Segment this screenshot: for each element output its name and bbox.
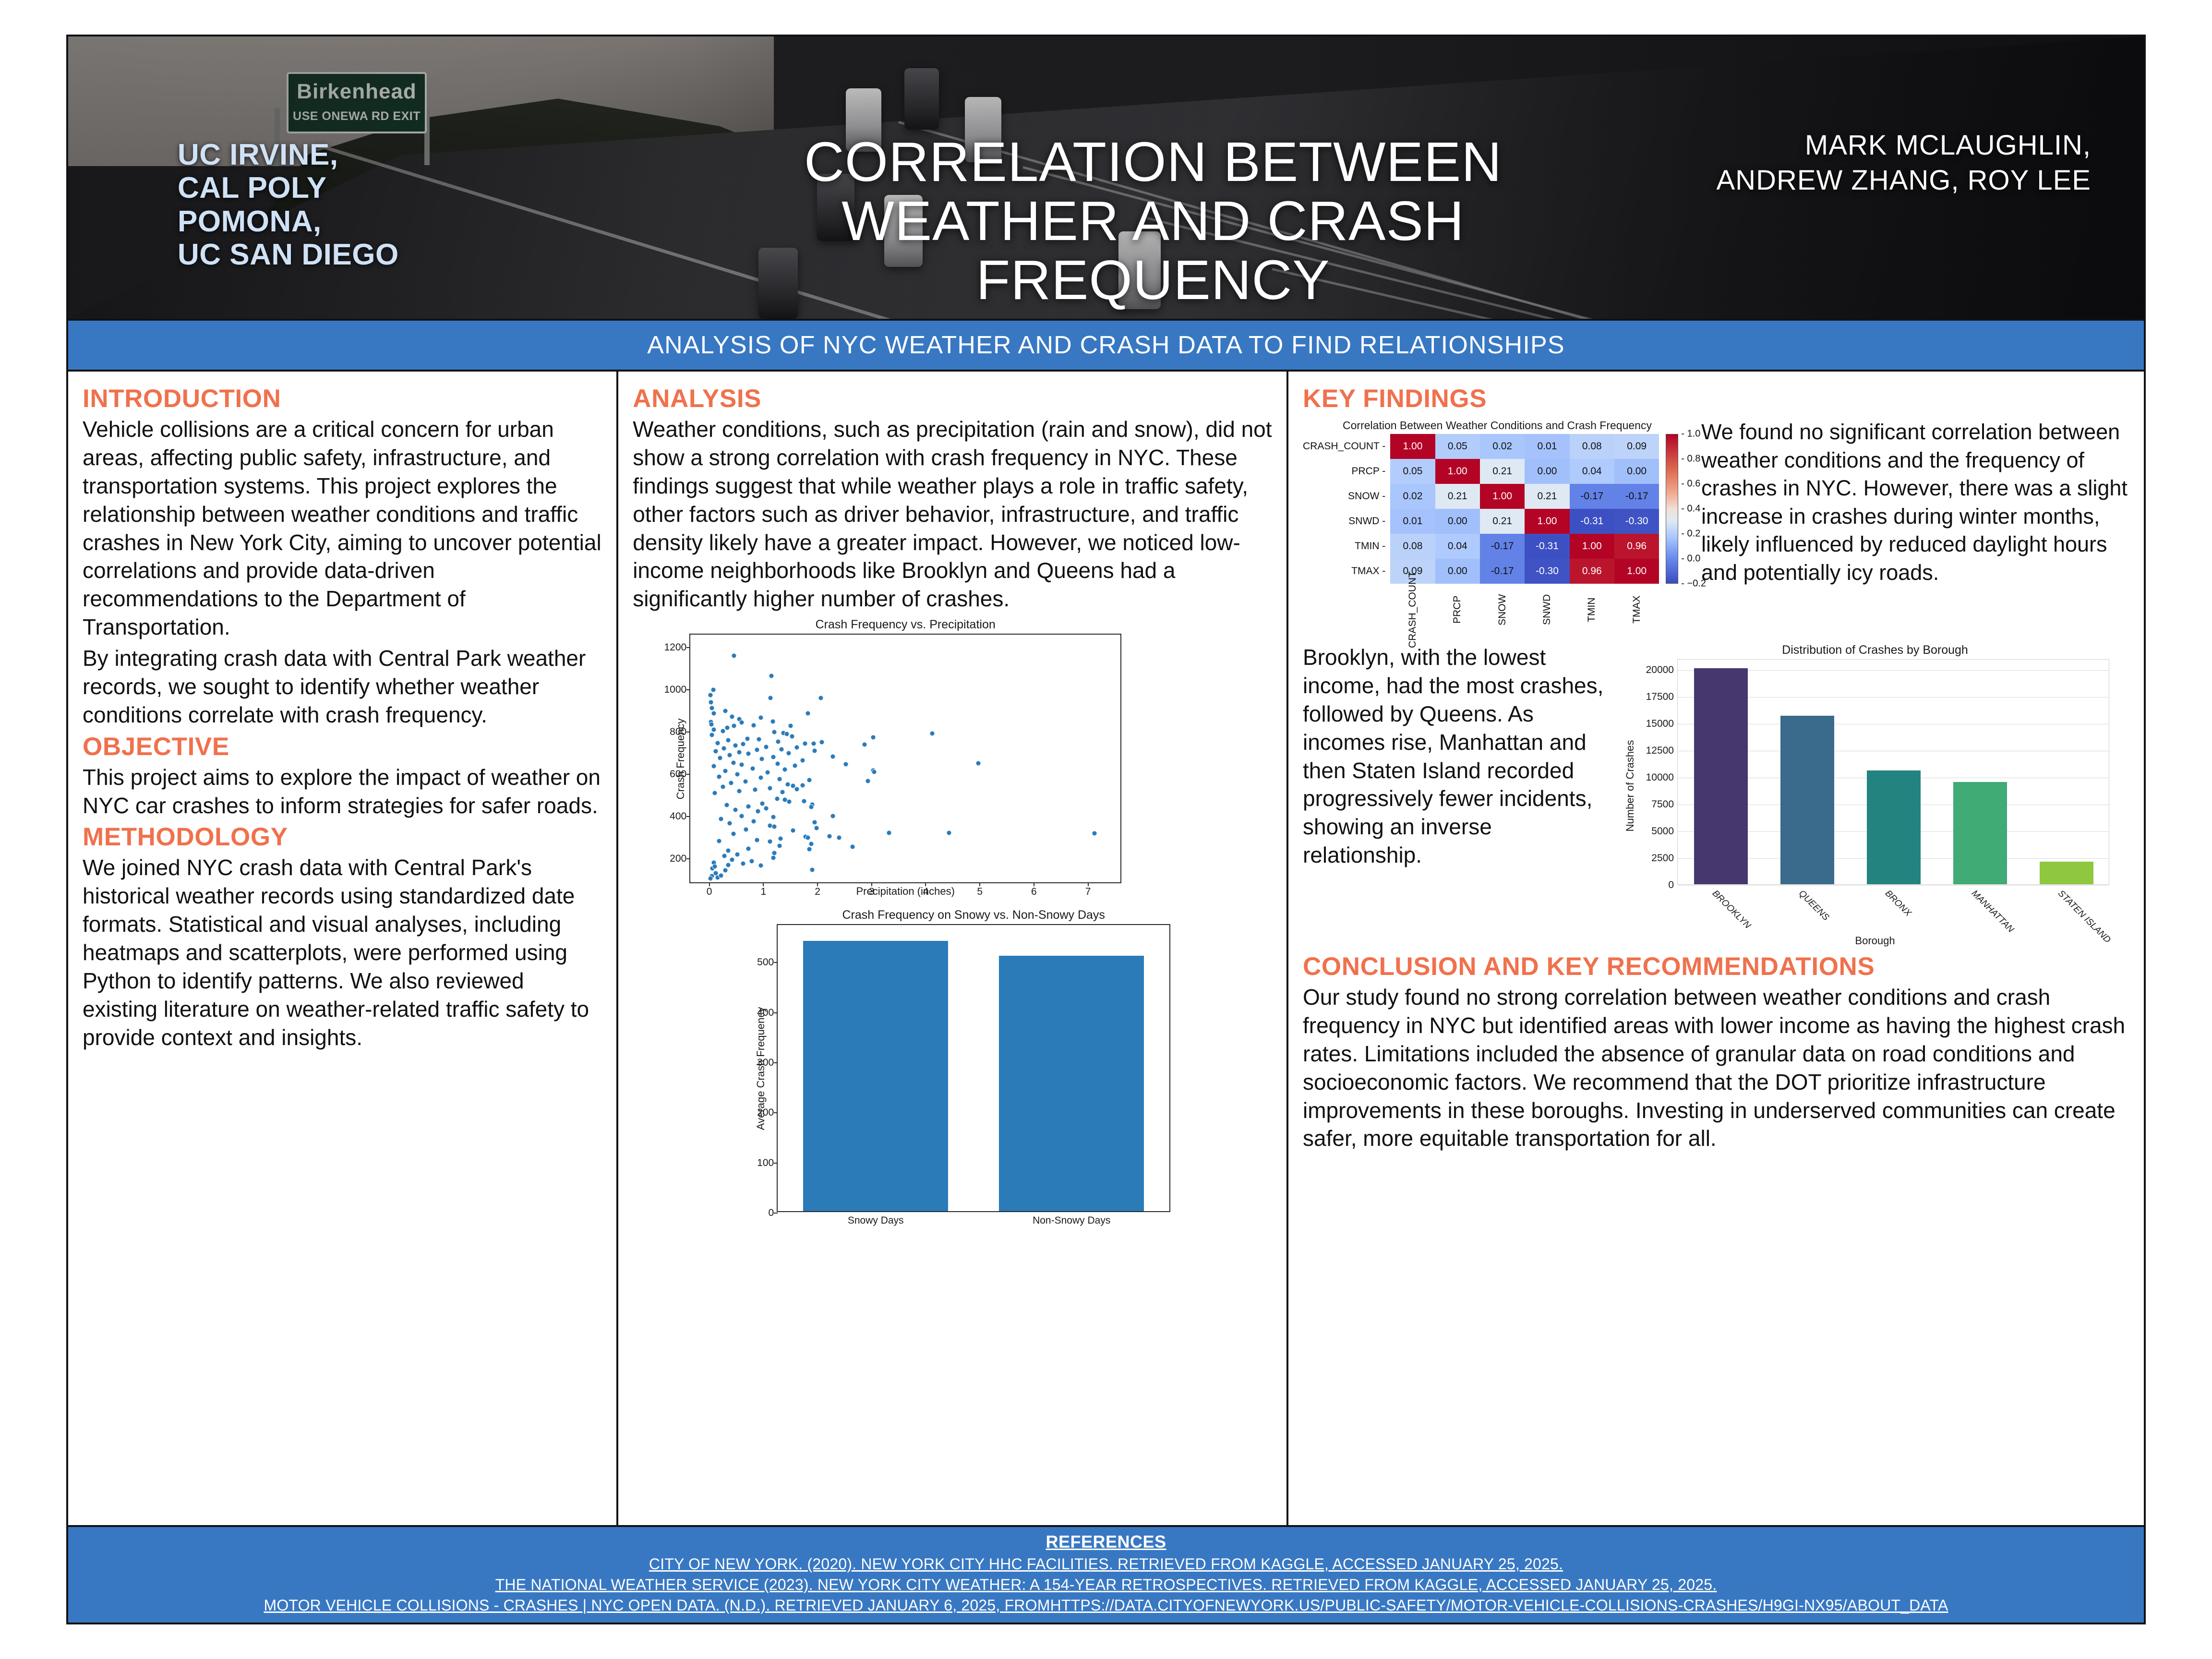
snow-y-tickmark <box>774 1213 778 1214</box>
scatter-y-tickmark <box>686 816 690 817</box>
scatter-data-point <box>770 719 775 724</box>
heatmap-column-label: SNOW <box>1497 584 1508 636</box>
scatter-data-point <box>946 830 951 836</box>
borough-bar <box>1953 782 2007 884</box>
scatter-data-point <box>708 876 713 881</box>
scatter-data-point <box>809 867 815 873</box>
heatmap-cell: 0.21 <box>1480 509 1525 534</box>
scatter-data-point <box>785 782 791 787</box>
heatmap-cell: -0.31 <box>1525 534 1569 559</box>
scatter-data-point <box>786 750 792 756</box>
scatter-y-tick: 1000 <box>664 684 686 696</box>
scatter-data-point <box>760 801 765 806</box>
scatter-y-tickmark <box>686 774 690 775</box>
heatmap-cell: 0.96 <box>1614 534 1659 559</box>
borough-bar <box>1780 716 1834 884</box>
borough-plot-area: 02500500075001000012500150001750020000BR… <box>1677 659 2109 885</box>
scatter-data-point <box>850 844 855 849</box>
scatter-data-point <box>739 814 745 819</box>
heatmap-cell: 0.02 <box>1390 484 1435 509</box>
colorbar-tick: - 1.0 <box>1681 429 1700 440</box>
scatter-data-point <box>805 711 810 716</box>
colorbar-tick: - 0.6 <box>1681 479 1700 490</box>
scatter-data-point <box>827 833 832 839</box>
scatter-data-point <box>770 855 776 861</box>
references-heading: REFERENCES <box>87 1532 2125 1552</box>
scatter-data-point <box>713 749 719 754</box>
scatter-data-point <box>708 692 713 697</box>
author-list: MARK MCLAUGHLIN, ANDREW ZHANG, ROY LEE <box>1707 128 2091 198</box>
scatter-data-point <box>736 789 742 794</box>
introduction-paragraph-2: By integrating crash data with Central P… <box>83 644 602 729</box>
heatmap-cell: 0.21 <box>1480 459 1525 484</box>
scatter-data-point <box>754 747 759 753</box>
scatter-x-tickmark <box>817 882 818 886</box>
heatmap-row-label: TMIN - <box>1303 534 1390 559</box>
scatter-x-tick: 5 <box>977 886 983 898</box>
scatter-data-point <box>740 861 745 866</box>
scatter-data-point <box>777 776 782 781</box>
heatmap-cell: 0.09 <box>1614 434 1659 459</box>
scatter-x-tick: 7 <box>1085 886 1091 898</box>
scatter-data-point <box>843 761 848 767</box>
colorbar-gradient <box>1666 434 1678 584</box>
scatter-data-point <box>800 758 805 763</box>
colorbar-tick: - 0.8 <box>1681 454 1700 465</box>
snow-y-tick: 0 <box>769 1207 774 1219</box>
borough-y-tick: 10000 <box>1646 772 1674 783</box>
scatter-data-point <box>735 852 740 857</box>
scatter-data-point <box>792 763 797 769</box>
scatter-data-point <box>784 732 789 737</box>
borough-bar <box>1867 770 1921 884</box>
conclusion-paragraph: Our study found no strong correlation be… <box>1303 983 2129 1153</box>
scatter-data-point <box>812 748 817 753</box>
borough-y-tick: 2500 <box>1651 853 1674 864</box>
colorbar-ticks: - 1.0- 0.8- 0.6- 0.4- 0.2- 0.0- −0.2 <box>1681 434 1711 584</box>
heatmap-column-label: TMIN <box>1586 584 1598 636</box>
scatter-x-tickmark <box>871 882 872 886</box>
scatter-data-point <box>767 839 772 844</box>
heatmap-column-label: TMAX <box>1631 584 1643 636</box>
scatter-data-point <box>727 821 733 826</box>
scatter-data-point <box>711 727 716 732</box>
objective-paragraph: This project aims to explore the impact … <box>83 763 602 820</box>
scatter-data-point <box>732 653 737 659</box>
heatmap-cell: -0.30 <box>1614 509 1659 534</box>
heatmap-column-label: CRASH_COUNT <box>1407 584 1419 636</box>
poster-subtitle: ANALYSIS OF NYC WEATHER AND CRASH DATA T… <box>68 319 2144 372</box>
scatter-x-tick: 3 <box>869 886 875 898</box>
scatter-data-point <box>724 802 729 807</box>
snow-y-tick: 400 <box>757 1007 774 1019</box>
scatter-data-point <box>774 796 780 801</box>
scatter-data-point <box>872 769 877 774</box>
scatter-data-point <box>736 749 742 755</box>
heatmap-cell: 0.08 <box>1570 434 1614 459</box>
scatter-data-point <box>777 843 782 848</box>
heatmap-colorbar: - 1.0- 0.8- 0.6- 0.4- 0.2- 0.0- −0.2 <box>1666 434 1711 584</box>
scatter-data-point <box>794 786 800 792</box>
scatter-y-tick: 200 <box>670 853 686 865</box>
borough-y-tick: 15000 <box>1646 718 1674 730</box>
scatter-data-point <box>871 734 876 740</box>
scatter-data-point <box>720 784 725 790</box>
snow-bar <box>999 956 1144 1211</box>
scatter-y-tickmark <box>686 689 690 690</box>
heatmap-cell: 1.00 <box>1614 559 1659 584</box>
scatter-data-point <box>721 746 727 751</box>
scatter-data-point <box>720 728 725 733</box>
heatmap-cell: 0.08 <box>1390 534 1435 559</box>
scatter-x-tickmark <box>1088 882 1089 886</box>
scatter-data-point <box>728 781 733 786</box>
heading-methodology: METHODOLOGY <box>83 822 602 852</box>
scatter-y-tick: 1200 <box>664 642 686 653</box>
scatter-data-point <box>744 827 749 832</box>
scatter-data-point <box>718 755 723 760</box>
heatmap-cell: 0.00 <box>1435 559 1480 584</box>
scatter-data-point <box>769 673 774 679</box>
scatter-data-point <box>807 847 812 852</box>
scatter-data-point <box>812 820 817 825</box>
heatmap-cell: 0.00 <box>1435 509 1480 534</box>
snow-chart-title: Crash Frequency on Snowy vs. Non-Snowy D… <box>777 908 1170 922</box>
scatter-data-point <box>751 722 757 728</box>
scatter-data-point <box>723 769 728 774</box>
borough-y-tick: 12500 <box>1646 745 1674 757</box>
scatter-y-tickmark <box>686 732 690 733</box>
scatter-data-point <box>733 807 738 813</box>
scatter-data-point <box>818 696 823 701</box>
chart-correlation-heatmap: Correlation Between Weather Conditions a… <box>1303 419 1692 636</box>
key-findings-paragraph: We found no significant correlation betw… <box>1701 415 2129 587</box>
borough-row: Brooklyn, with the lowest income, had th… <box>1303 643 2129 947</box>
scatter-data-point <box>739 720 745 725</box>
scatter-data-point <box>710 687 716 692</box>
heading-analysis: ANALYSIS <box>633 384 1272 413</box>
borough-x-tick: BRONX <box>1883 889 1913 919</box>
heatmap-cell: -0.30 <box>1525 559 1569 584</box>
affiliation-line: CAL POLY <box>178 171 399 204</box>
scatter-data-point <box>782 767 788 772</box>
heading-introduction: INTRODUCTION <box>83 384 602 413</box>
scatter-data-point <box>753 787 758 792</box>
scatter-data-point <box>763 806 769 811</box>
heatmap-cell: -0.17 <box>1614 484 1659 509</box>
heatmap-column-label: SNWD <box>1541 584 1553 636</box>
scatter-data-point <box>756 809 761 814</box>
borough-y-axis-label: Number of Crashes <box>1624 714 1636 858</box>
scatter-y-axis-label: Crash Frequency <box>674 692 687 826</box>
scatter-data-point <box>771 729 777 734</box>
scatter-data-point <box>865 779 870 784</box>
heatmap-grid: 1.000.050.020.010.080.090.051.000.210.00… <box>1390 434 1659 584</box>
scatter-data-point <box>765 770 770 775</box>
heatmap-cell: -0.17 <box>1570 484 1614 509</box>
scatter-y-tick: 800 <box>670 726 686 738</box>
scatter-data-point <box>788 723 793 728</box>
scatter-data-point <box>726 738 731 743</box>
scatter-data-point <box>775 761 780 766</box>
borough-gridline <box>1678 885 2109 886</box>
heatmap-cell: 1.00 <box>1525 509 1569 534</box>
heading-key-findings: KEY FINDINGS <box>1303 384 2129 413</box>
heatmap-cell: 0.05 <box>1435 434 1480 459</box>
scatter-data-point <box>771 824 777 829</box>
scatter-x-axis-label: Precipitation (inches) <box>689 885 1121 898</box>
poster-title: CORRELATION BETWEEN WEATHER AND CRASH FR… <box>735 132 1571 310</box>
scatter-data-point <box>758 775 763 780</box>
heatmap-cell: 0.00 <box>1525 459 1569 484</box>
heatmap-row-label: CRASH_COUNT - <box>1303 434 1390 459</box>
snow-y-tickmark <box>774 1062 778 1063</box>
scatter-data-point <box>716 774 721 780</box>
introduction-paragraph-1: Vehicle collisions are a critical concer… <box>83 415 602 641</box>
heading-objective: OBJECTIVE <box>83 732 602 761</box>
scatter-data-point <box>716 838 721 843</box>
scatter-data-point <box>709 721 714 727</box>
scatter-data-point <box>750 766 755 771</box>
heatmap-row-labels: CRASH_COUNT -PRCP -SNOW -SNWD -TMIN -TMA… <box>1303 434 1390 584</box>
affiliation-line: POMONA, <box>178 205 399 238</box>
borough-y-tick: 5000 <box>1651 826 1674 837</box>
methodology-paragraph: We joined NYC crash data with Central Pa… <box>83 854 602 1051</box>
scatter-data-point <box>830 813 835 818</box>
scatter-y-tickmark <box>686 858 690 859</box>
scatter-data-point <box>768 696 773 701</box>
heatmap-cell: 0.04 <box>1570 459 1614 484</box>
column-findings: KEY FINDINGS Correlation Between Weather… <box>1288 372 2144 1525</box>
scatter-data-point <box>709 700 714 705</box>
heatmap-cell: 0.00 <box>1614 459 1659 484</box>
heatmap-title: Correlation Between Weather Conditions a… <box>1303 419 1692 432</box>
key-findings-row: Correlation Between Weather Conditions a… <box>1303 415 2129 636</box>
borough-x-tick: QUEENS <box>1796 889 1831 923</box>
scatter-x-tick: 1 <box>761 886 767 898</box>
scatter-x-tickmark <box>763 882 764 886</box>
heatmap-cell: 0.21 <box>1525 484 1569 509</box>
scatter-x-tick: 4 <box>923 886 929 898</box>
chart-crash-vs-precipitation: Crash Frequency vs. Precipitation Crash … <box>689 618 1121 898</box>
heading-conclusion: CONCLUSION AND KEY RECOMMENDATIONS <box>1303 952 2129 981</box>
scatter-data-point <box>735 771 740 777</box>
scatter-data-point <box>711 764 716 769</box>
scatter-data-point <box>719 873 724 878</box>
scatter-data-point <box>723 868 728 873</box>
heatmap-cell: 0.96 <box>1570 559 1614 584</box>
borough-x-tick: MANHATTAN <box>1969 889 2016 935</box>
scatter-data-point <box>758 715 763 720</box>
scatter-data-point <box>780 790 785 795</box>
scatter-data-point <box>715 740 720 745</box>
scatter-data-point <box>758 863 763 868</box>
heatmap-row-label: PRCP - <box>1303 459 1390 484</box>
scatter-data-point <box>723 708 728 713</box>
heatmap-body: CRASH_COUNT -PRCP -SNOW -SNWD -TMIN -TMA… <box>1303 434 1692 636</box>
scatter-data-point <box>803 741 808 746</box>
scatter-data-point <box>1092 831 1097 836</box>
scatter-data-point <box>711 711 716 716</box>
borough-y-tick: 7500 <box>1651 799 1674 810</box>
borough-x-tick: BROOKLYN <box>1710 889 1753 931</box>
scatter-data-point <box>830 754 835 759</box>
scatter-data-point <box>929 731 935 736</box>
snow-y-tick: 200 <box>757 1107 774 1118</box>
heatmap-cell: -0.17 <box>1480 559 1525 584</box>
scatter-y-tickmark <box>686 647 690 648</box>
reference-item[interactable]: MOTOR VEHICLE COLLISIONS - CRASHES | NYC… <box>87 1595 2125 1616</box>
column-introduction: INTRODUCTION Vehicle collisions are a cr… <box>68 372 618 1525</box>
heatmap-column-label: PRCP <box>1452 584 1463 636</box>
scatter-plot-area: Crash Frequency 200400600800100012000123… <box>689 634 1121 883</box>
scatter-data-point <box>726 862 731 867</box>
scatter-data-point <box>709 706 715 711</box>
snow-y-tickmark <box>774 1163 778 1164</box>
scatter-data-point <box>729 714 734 720</box>
scatter-data-point <box>759 757 764 762</box>
scatter-data-point <box>862 742 867 747</box>
scatter-data-point <box>709 733 715 738</box>
scatter-data-point <box>726 848 731 853</box>
scatter-x-tick: 6 <box>1031 886 1037 898</box>
scatter-data-point <box>787 799 792 805</box>
borough-paragraph: Brooklyn, with the lowest income, had th… <box>1303 643 1610 869</box>
scatter-data-point <box>770 754 776 759</box>
scatter-data-point <box>767 785 772 791</box>
scatter-data-point <box>743 779 748 784</box>
scatter-data-point <box>712 790 717 795</box>
snow-y-axis-label: Average Crash Frequency <box>755 963 767 1174</box>
scatter-data-point <box>731 831 736 837</box>
snow-y-tickmark <box>774 1112 778 1113</box>
scatter-data-point <box>814 826 819 831</box>
scatter-data-point <box>794 745 800 750</box>
heatmap-cell: 0.01 <box>1390 509 1435 534</box>
heatmap-cell: 1.00 <box>1570 534 1614 559</box>
heatmap-cell: 0.04 <box>1435 534 1480 559</box>
heatmap-row-label: TMAX - <box>1303 559 1390 584</box>
borough-y-tick: 0 <box>1668 879 1674 891</box>
scatter-data-point <box>886 830 891 836</box>
scatter-y-tick: 400 <box>670 811 686 822</box>
scatter-x-tickmark <box>1034 882 1034 886</box>
scatter-data-point <box>731 760 736 765</box>
snow-plot-area: Average Crash Frequency 0100200300400500… <box>777 924 1170 1212</box>
scatter-data-point <box>739 762 745 768</box>
colorbar-tick: - −0.2 <box>1681 578 1706 589</box>
snow-y-tick: 300 <box>757 1057 774 1069</box>
heatmap-cell: 0.02 <box>1480 434 1525 459</box>
scatter-data-point <box>808 841 814 846</box>
scatter-x-tickmark <box>979 882 980 886</box>
scatter-data-point <box>745 804 751 809</box>
scatter-x-tickmark <box>709 882 710 886</box>
scatter-data-point <box>805 835 810 841</box>
poster-root: Birkenhead USE ONEWA RD EXIT UC IRVINE, … <box>66 35 2146 1624</box>
heatmap-cell: 1.00 <box>1480 484 1525 509</box>
scatter-data-point <box>745 736 750 741</box>
reference-item[interactable]: THE NATIONAL WEATHER SERVICE (2023). NEW… <box>87 1575 2125 1595</box>
snow-x-tick: Non-Snowy Days <box>1033 1215 1110 1226</box>
scatter-data-point <box>763 744 769 749</box>
scatter-data-point <box>790 733 795 739</box>
scatter-data-point <box>791 828 796 833</box>
heatmap-cell: 0.21 <box>1435 484 1480 509</box>
scatter-data-point <box>778 836 783 842</box>
scatter-chart-title: Crash Frequency vs. Precipitation <box>689 618 1121 632</box>
scatter-data-point <box>819 739 825 745</box>
scatter-data-point <box>800 782 805 788</box>
scatter-data-point <box>745 751 751 756</box>
scatter-data-point <box>775 739 781 744</box>
scatter-data-point <box>779 746 784 752</box>
heatmap-cell: 1.00 <box>1390 434 1435 459</box>
heatmap-cell: 1.00 <box>1435 459 1480 484</box>
scatter-data-point <box>807 778 812 783</box>
scatter-data-point <box>751 818 757 824</box>
scatter-data-point <box>732 723 737 729</box>
scatter-y-tick: 600 <box>670 769 686 780</box>
heatmap-cell: 0.05 <box>1390 459 1435 484</box>
snow-x-tick: Snowy Days <box>848 1215 904 1226</box>
chart-snowy-vs-nonsnowy: Crash Frequency on Snowy vs. Non-Snowy D… <box>777 908 1170 1212</box>
scatter-data-point <box>740 742 745 747</box>
affiliation-line: UC SAN DIEGO <box>178 238 399 271</box>
poster-header: Birkenhead USE ONEWA RD EXIT UC IRVINE, … <box>68 36 2144 319</box>
scatter-data-point <box>727 753 733 758</box>
scatter-data-point <box>733 743 738 748</box>
heatmap-cell: -0.17 <box>1480 534 1525 559</box>
analysis-paragraph: Weather conditions, such as precipitatio… <box>633 415 1272 613</box>
scatter-data-point <box>837 835 842 841</box>
scatter-data-point <box>749 858 754 864</box>
heatmap-cell: -0.31 <box>1570 509 1614 534</box>
poster-body: INTRODUCTION Vehicle collisions are a cr… <box>68 372 2144 1525</box>
snow-y-tick: 500 <box>757 957 774 968</box>
references-footer: REFERENCES CITY OF NEW YORK. (2020). NEW… <box>68 1525 2144 1623</box>
borough-chart-title: Distribution of Crashes by Borough <box>1621 643 2129 657</box>
heatmap-column-labels: CRASH_COUNTPRCPSNOWSNWDTMINTMAX <box>1390 584 1659 636</box>
scatter-data-point <box>770 814 776 819</box>
scatter-data-point <box>745 846 751 852</box>
borough-y-tick: 17500 <box>1646 691 1674 703</box>
borough-x-axis-label: Borough <box>1621 935 2129 947</box>
scatter-data-point <box>757 737 762 742</box>
chart-crashes-by-borough: Distribution of Crashes by Borough Numbe… <box>1621 643 2129 947</box>
snow-bar <box>803 941 948 1211</box>
scatter-data-point <box>722 853 727 858</box>
scatter-data-point <box>808 805 814 810</box>
heatmap-cell: 0.01 <box>1525 434 1569 459</box>
affiliation-line: UC IRVINE, <box>178 138 399 171</box>
scatter-data-point <box>729 857 734 863</box>
column-analysis: ANALYSIS Weather conditions, such as pre… <box>618 372 1288 1525</box>
scatter-data-point <box>801 799 806 804</box>
colorbar-tick: - 0.2 <box>1681 529 1700 540</box>
snow-y-tick: 100 <box>757 1157 774 1169</box>
heatmap-row-label: SNOW - <box>1303 484 1390 509</box>
colorbar-tick: - 0.0 <box>1681 553 1700 565</box>
heatmap-row-label: SNWD - <box>1303 509 1390 534</box>
borough-bar <box>2040 862 2093 884</box>
scatter-x-tick: 0 <box>707 886 712 898</box>
affiliations: UC IRVINE, CAL POLY POMONA, UC SAN DIEGO <box>178 138 399 272</box>
reference-item[interactable]: CITY OF NEW YORK. (2020). NEW YORK CITY … <box>87 1554 2125 1575</box>
scatter-data-point <box>811 741 817 746</box>
snow-y-tickmark <box>774 1012 778 1013</box>
scatter-data-point <box>712 864 717 869</box>
